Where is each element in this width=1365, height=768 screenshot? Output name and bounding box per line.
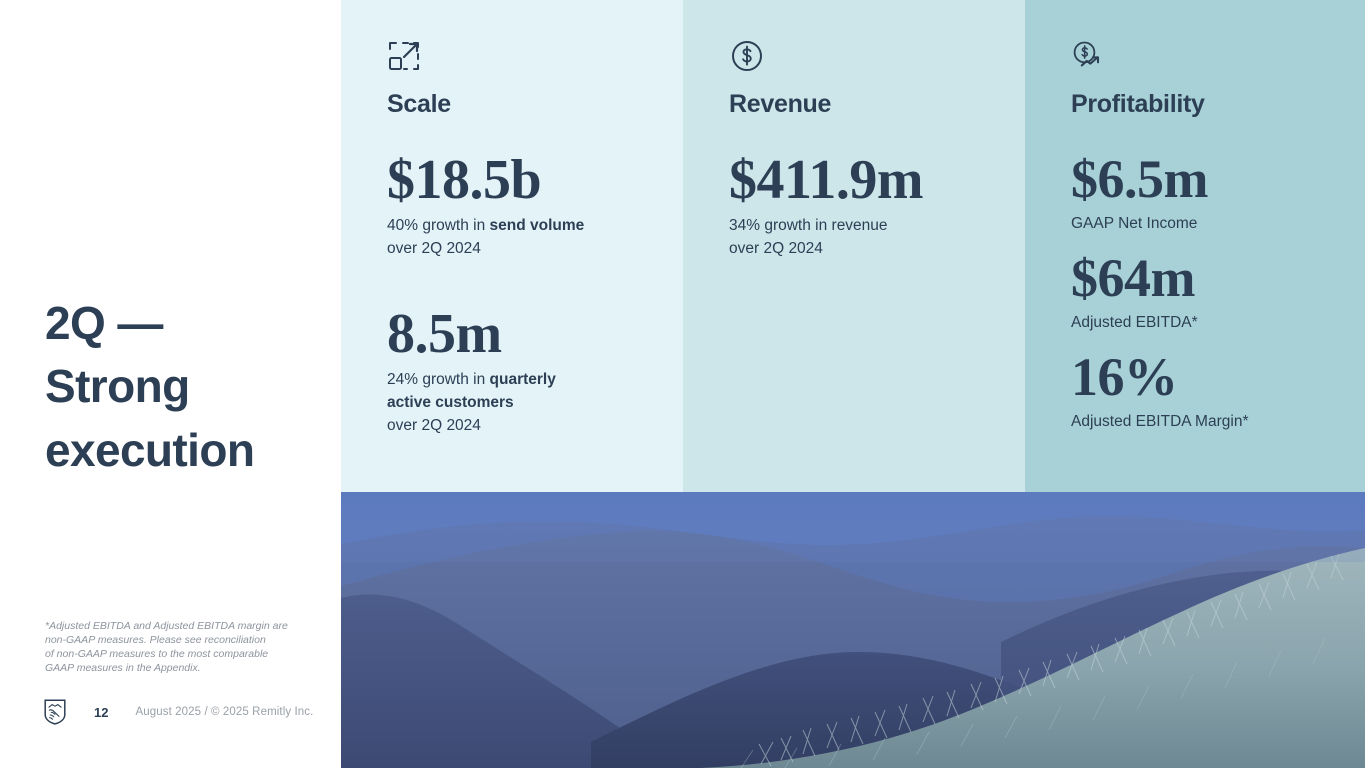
desc-prefix: Adjusted EBITDA*	[1071, 314, 1198, 331]
metric-value: $18.5b	[387, 151, 683, 209]
panel-title-scale: Scale	[387, 90, 683, 119]
desc-prefix: 34% growth in revenue over 2Q 2024	[729, 217, 888, 257]
footer: 12 August 2025 / © 2025 Remitly Inc.	[44, 698, 313, 726]
desc-prefix: 40% growth in	[387, 217, 490, 234]
scale-expand-icon	[387, 38, 683, 74]
metric-profitability-0: $6.5m GAAP Net Income	[1071, 151, 1365, 236]
footnote-text: *Adjusted EBITDA and Adjusted EBITDA mar…	[45, 620, 335, 675]
metric-description: Adjusted EBITDA Margin*	[1071, 411, 1365, 434]
metric-value: $64m	[1071, 250, 1365, 306]
panel-profitability: Profitability $6.5m GAAP Net Income $64m…	[1025, 0, 1365, 492]
desc-prefix: GAAP Net Income	[1071, 215, 1197, 232]
left-panel: 2Q — Strong execution *Adjusted EBITDA a…	[0, 0, 341, 768]
metric-profitability-2: 16% Adjusted EBITDA Margin*	[1071, 349, 1365, 434]
desc-prefix: 24% growth in	[387, 371, 490, 388]
metric-scale-1: 8.5m 24% growth in quarterly active cust…	[387, 305, 683, 438]
panel-title-revenue: Revenue	[729, 90, 1025, 119]
metric-value: 16%	[1071, 349, 1365, 405]
metric-description: 40% growth in send volume over 2Q 2024	[387, 215, 683, 261]
remitly-shield-logo	[44, 699, 66, 725]
copyright-text: August 2025 / © 2025 Remitly Inc.	[135, 706, 313, 718]
metric-description: GAAP Net Income	[1071, 213, 1365, 236]
page-title: 2Q — Strong execution	[45, 292, 325, 482]
dollar-growth-arrow-icon	[1071, 38, 1365, 74]
metric-revenue-0: $411.9m 34% growth in revenue over 2Q 20…	[729, 151, 1025, 261]
desc-suffix: over 2Q 2024	[387, 417, 481, 434]
page-number: 12	[94, 705, 108, 720]
metric-description: 24% growth in quarterly active customers…	[387, 369, 683, 437]
desc-suffix: over 2Q 2024	[387, 240, 481, 257]
metric-description: Adjusted EBITDA*	[1071, 312, 1365, 335]
metric-value: $6.5m	[1071, 151, 1365, 207]
slide-root: 2Q — Strong execution *Adjusted EBITDA a…	[0, 0, 1365, 768]
mountain-agave-photo	[341, 492, 1365, 768]
desc-prefix: Adjusted EBITDA Margin*	[1071, 413, 1248, 430]
metric-scale-0: $18.5b 40% growth in send volume over 2Q…	[387, 151, 683, 261]
metric-value: $411.9m	[729, 151, 1025, 209]
metric-description: 34% growth in revenue over 2Q 2024	[729, 215, 1025, 261]
metric-value: 8.5m	[387, 305, 683, 363]
panel-scale: Scale $18.5b 40% growth in send volume o…	[341, 0, 683, 492]
metric-profitability-1: $64m Adjusted EBITDA*	[1071, 250, 1365, 335]
desc-emphasis: send volume	[490, 217, 585, 234]
dollar-circle-icon	[729, 38, 1025, 74]
panel-revenue: Revenue $411.9m 34% growth in revenue ov…	[683, 0, 1025, 492]
metric-panels: Scale $18.5b 40% growth in send volume o…	[341, 0, 1365, 492]
panel-title-profitability: Profitability	[1071, 90, 1365, 119]
